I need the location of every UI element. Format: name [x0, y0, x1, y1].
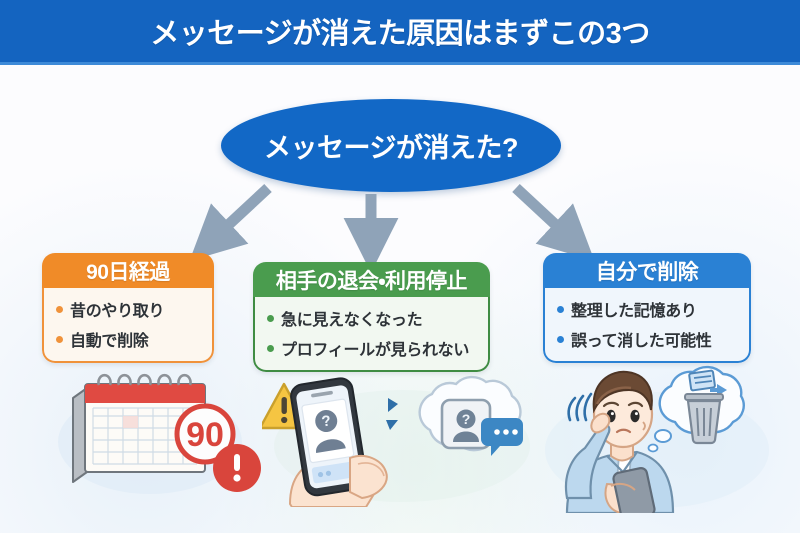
- list-item: 誤って消した可能性: [557, 327, 743, 351]
- unknown-question-glyph: ?: [462, 411, 471, 427]
- header-bar: メッセージが消えた原因はまずこの3つ: [0, 0, 800, 62]
- list-item: 急に見えなくなった: [267, 306, 482, 330]
- card-3-body: 整理した記憶あり 誤って消した可能性: [543, 288, 751, 363]
- bullet-dot-icon: [557, 336, 564, 343]
- card-1-bullet-1: 昔のやり取り: [70, 297, 164, 321]
- bullet-dot-icon: [56, 336, 63, 343]
- card-2-bullet-2: プロフィールが見られない: [281, 336, 469, 360]
- list-item: 昔のやり取り: [56, 297, 206, 321]
- list-item: 整理した記憶あり: [557, 297, 743, 321]
- card-2-header: 相手の退会・利用停止: [253, 262, 490, 297]
- calendar-badge-number: 90: [186, 416, 224, 454]
- list-item: プロフィールが見られない: [267, 336, 482, 360]
- bullet-dot-icon: [267, 345, 274, 352]
- card-2-body: 急に見えなくなった プロフィールが見られない: [253, 297, 490, 372]
- page-title: メッセージが消えた原因はまずこの3つ: [150, 10, 650, 52]
- card-3-header: 自分で削除: [543, 253, 751, 288]
- card-3-title: 自分で削除: [596, 256, 699, 286]
- card-3-bullet-2: 誤って消した可能性: [571, 327, 712, 351]
- bullet-dot-icon: [56, 306, 63, 313]
- cause-card-90-days: 90日経過 昔のやり取り 自動で削除: [42, 253, 214, 363]
- list-item: 自動で削除: [56, 327, 206, 351]
- card-1-body: 昔のやり取り 自動で削除: [42, 288, 214, 363]
- bullet-dot-icon: [557, 306, 564, 313]
- card-2-bullet-1: 急に見えなくなった: [281, 306, 422, 330]
- cause-card-partner-withdrawal: 相手の退会・利用停止 急に見えなくなった プロフィールが見られない: [253, 262, 490, 372]
- infographic-canvas: メッセージが消えた原因はまずこの3つ メッセージが消えた? 90日経過 昔のやり…: [0, 0, 800, 533]
- calendar-illustration: 90: [55, 362, 270, 502]
- hand-phone-unknown-profile-illustration: ? ?: [262, 372, 532, 507]
- root-question-label: メッセージが消えた?: [264, 126, 518, 165]
- cause-card-self-deleted: 自分で削除 整理した記憶あり 誤って消した可能性: [543, 253, 751, 363]
- card-3-bullet-1: 整理した記憶あり: [571, 297, 697, 321]
- root-question-node: メッセージが消えた?: [221, 99, 561, 192]
- bullet-dot-icon: [267, 315, 274, 322]
- header-underline: [0, 62, 800, 65]
- card-2-title: 相手の退会・利用停止: [276, 265, 467, 295]
- person-thinking-trash-illustration: [545, 358, 780, 513]
- card-1-title: 90日経過: [86, 256, 170, 286]
- card-1-header: 90日経過: [42, 253, 214, 288]
- card-1-bullet-2: 自動で削除: [70, 327, 149, 351]
